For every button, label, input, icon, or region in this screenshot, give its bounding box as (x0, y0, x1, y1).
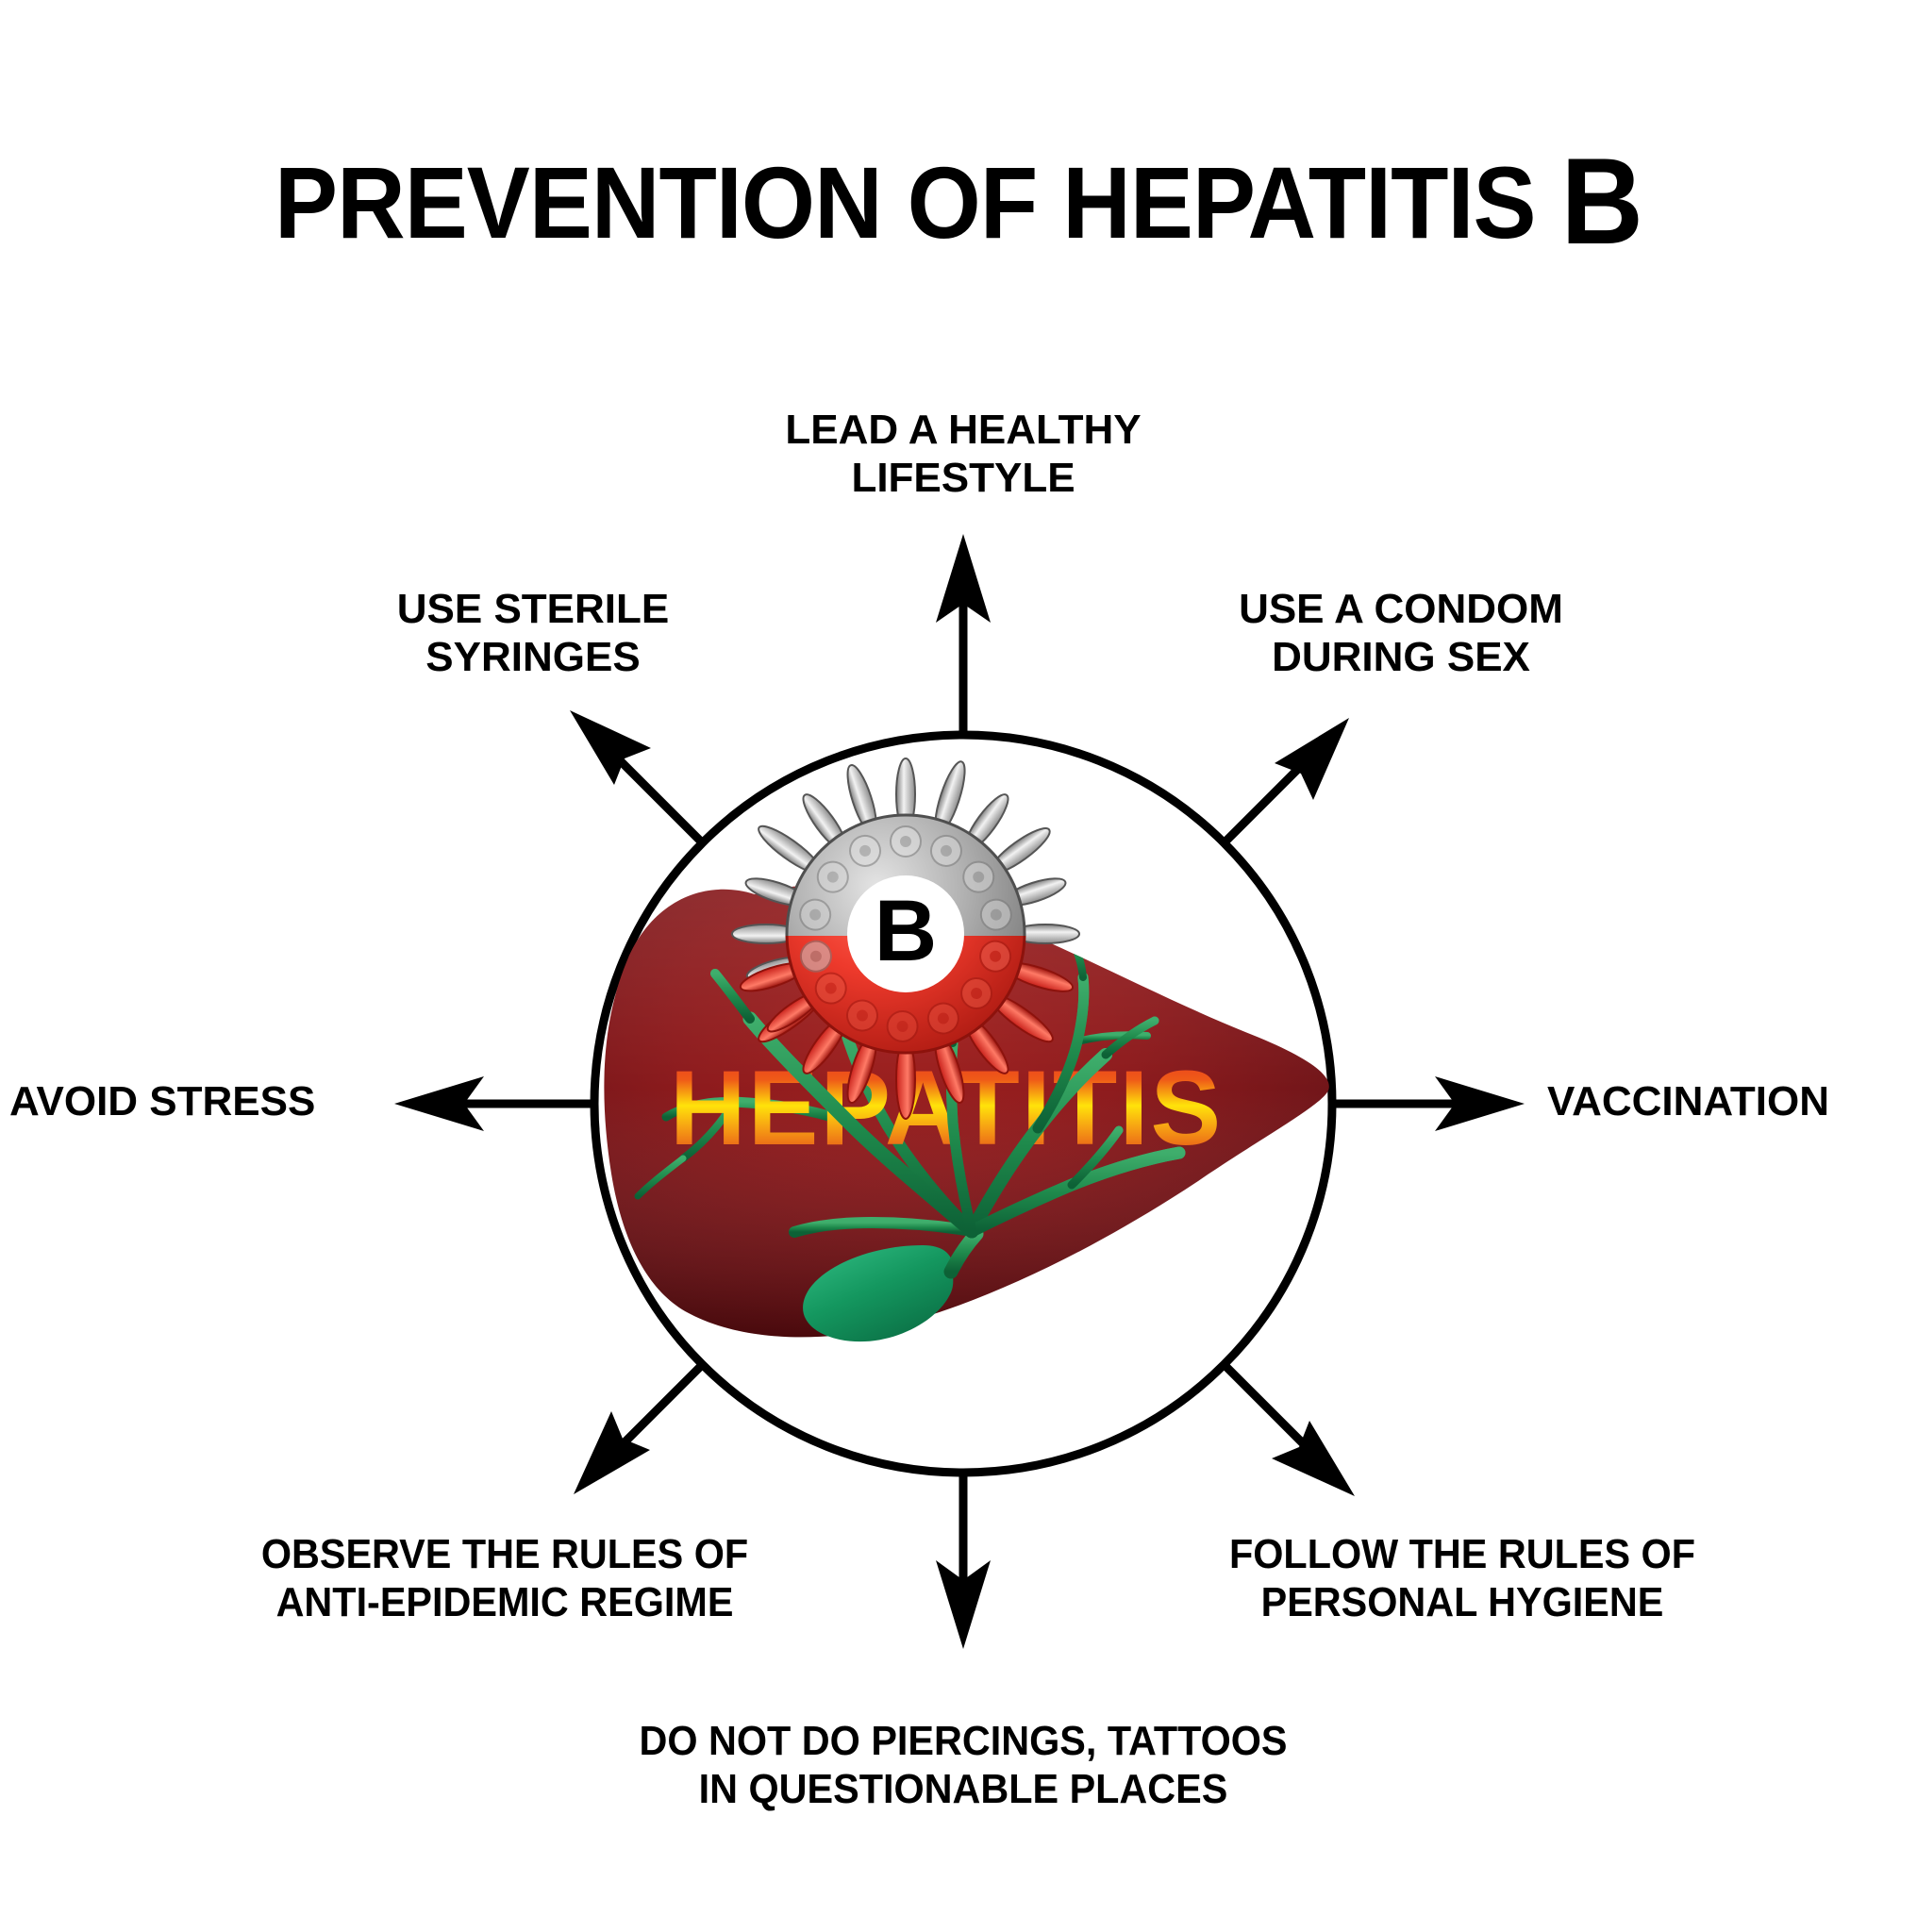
arrow-down-right (1225, 1365, 1355, 1496)
liver-illustration: HEPATITIS (604, 758, 1328, 1341)
label-vaccination: VACCINATION (1547, 1077, 1917, 1125)
virus-spikes-red (738, 957, 1075, 1119)
liver-vessels-overlay (715, 934, 1179, 1231)
hepatitis-b-virus: B (732, 758, 1079, 1119)
bile-duct (951, 1234, 976, 1272)
label-use-a-condom-during-sex: USE A CONDOM DURING SEX (1104, 585, 1698, 682)
hepatitis-wordmark: HEPATITIS (670, 1049, 1223, 1167)
label-lead-healthy-lifestyle: LEAD A HEALTHY LIFESTYLE (609, 406, 1317, 503)
virus-capsomeres (797, 826, 1014, 1041)
virus-letter-b: B (875, 883, 937, 979)
virus-spikes-gray (732, 758, 1079, 985)
prevention-diagram: HEPATITIS (0, 0, 1917, 1932)
label-avoid-stress: AVOID STRESS (9, 1077, 387, 1125)
label-use-sterile-syringes: USE STERILE SYRINGES (236, 585, 830, 682)
arrow-up-left (570, 710, 702, 842)
arrow-up-right (1225, 718, 1349, 842)
virus-core (847, 875, 964, 992)
arrow-group (394, 534, 1525, 1649)
label-observe-anti-epidemic-regime: OBSERVE THE RULES OF ANTI-EPIDEMIC REGIM… (150, 1530, 859, 1627)
label-no-piercings-tattoos: DO NOT DO PIERCINGS, TATTOOS IN QUESTION… (520, 1717, 1407, 1814)
arrow-up (936, 534, 991, 735)
gallbladder (803, 1245, 953, 1341)
page-title-main: PREVENTION OF HEPATITIS (275, 145, 1560, 259)
arrow-left (394, 1076, 594, 1131)
hepatitis-text: HEPATITIS (670, 1049, 1223, 1167)
arrow-right (1332, 1076, 1525, 1131)
label-follow-personal-hygiene: FOLLOW THE RULES OF PERSONAL HYGIENE (1099, 1530, 1826, 1627)
liver-body (604, 885, 1328, 1338)
arrow-down (936, 1473, 991, 1649)
page-title-letter-b: B (1561, 132, 1642, 270)
center-circle (594, 735, 1332, 1473)
infographic-root: PREVENTION OF HEPATITIS B (0, 0, 1917, 1932)
liver-vessels (638, 934, 1179, 1232)
arrow-down-left (574, 1365, 702, 1494)
page-title: PREVENTION OF HEPATITIS B (67, 140, 1850, 262)
